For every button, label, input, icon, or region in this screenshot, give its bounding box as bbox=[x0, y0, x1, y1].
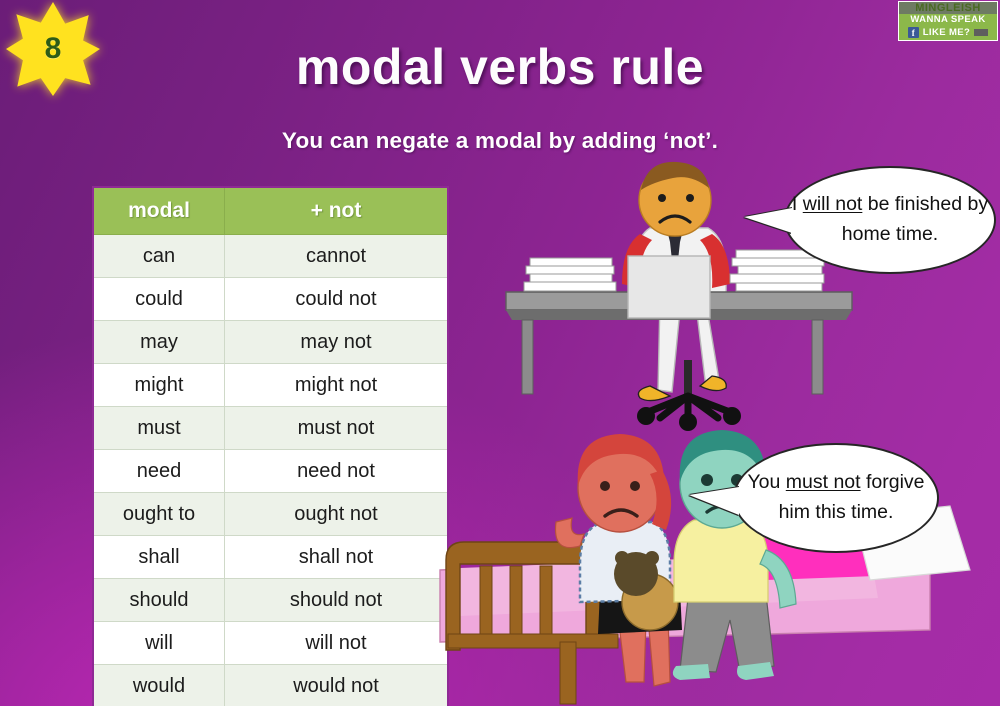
cell-negated: shall not bbox=[225, 536, 449, 579]
table-row: needneed not bbox=[93, 450, 448, 493]
table-row: willwill not bbox=[93, 622, 448, 665]
cell-modal: may bbox=[93, 321, 225, 364]
speech-bubble-bedroom-text: You must not forgive him this time. bbox=[735, 468, 937, 527]
cell-negated: will not bbox=[225, 622, 449, 665]
boy-shirt bbox=[674, 520, 768, 602]
boy-eye-left bbox=[701, 474, 713, 486]
speech-bubble-office: I will not be finished by home time. bbox=[784, 166, 996, 274]
table-row: shallshall not bbox=[93, 536, 448, 579]
cell-modal: must bbox=[93, 407, 225, 450]
cell-modal: might bbox=[93, 364, 225, 407]
teddy-ear-right bbox=[645, 551, 659, 565]
cell-modal: will bbox=[93, 622, 225, 665]
cell-modal: shall bbox=[93, 536, 225, 579]
mingleish-logo[interactable]: MINGLEISH WANNA SPEAK f LIKE ME? bbox=[898, 1, 998, 41]
cell-modal: ought to bbox=[93, 493, 225, 536]
table-row: couldcould not bbox=[93, 278, 448, 321]
table-row: cancannot bbox=[93, 235, 448, 278]
table-row: mightmight not bbox=[93, 364, 448, 407]
cell-negated: ought not bbox=[225, 493, 449, 536]
boy-pants bbox=[680, 594, 774, 672]
girl-eye-right bbox=[630, 481, 640, 491]
speech-bubble-bedroom: You must not forgive him this time. bbox=[733, 443, 939, 553]
table-row: shouldshould not bbox=[93, 579, 448, 622]
column-header-not: + not bbox=[225, 187, 449, 235]
cell-modal: could bbox=[93, 278, 225, 321]
paper-stack-left bbox=[524, 258, 616, 291]
cell-negated: must not bbox=[225, 407, 449, 450]
column-header-modal: modal bbox=[93, 187, 225, 235]
boy-shoe-left bbox=[673, 664, 710, 680]
paper-stack-right bbox=[730, 250, 824, 291]
emphasis-will-not: will not bbox=[803, 193, 863, 215]
worker-eye-right bbox=[686, 194, 694, 202]
girl-arm bbox=[556, 518, 585, 548]
page-subtitle: You can negate a modal by adding ‘not’. bbox=[0, 128, 1000, 154]
speech-bubble-tail bbox=[689, 487, 739, 515]
logo-line-2: LIKE ME? bbox=[923, 27, 971, 38]
table-row: mustmust not bbox=[93, 407, 448, 450]
table-row: ought toought not bbox=[93, 493, 448, 536]
modal-verbs-table: modal + not cancannotcouldcould notmayma… bbox=[92, 186, 449, 706]
teddy-ear-left bbox=[615, 551, 629, 565]
table-header-row: modal + not bbox=[93, 187, 448, 235]
facebook-icon[interactable]: f bbox=[908, 27, 919, 38]
cell-negated: may not bbox=[225, 321, 449, 364]
page-title: modal verbs rule bbox=[0, 38, 1000, 96]
cell-modal: can bbox=[93, 235, 225, 278]
table-row: maymay not bbox=[93, 321, 448, 364]
speech-bubble-tail bbox=[744, 208, 792, 233]
worker-eye-left bbox=[658, 194, 666, 202]
laptop-screen bbox=[628, 256, 710, 318]
cell-negated: need not bbox=[225, 450, 449, 493]
slide-canvas: 8 MINGLEISH WANNA SPEAK f LIKE ME? modal… bbox=[0, 0, 1000, 706]
cell-negated: cannot bbox=[225, 235, 449, 278]
logo-brand-text: MINGLEISH bbox=[899, 2, 997, 14]
cell-modal: need bbox=[93, 450, 225, 493]
table-body: cancannotcouldcould notmaymay notmightmi… bbox=[93, 235, 448, 706]
cell-negated: might not bbox=[225, 364, 449, 407]
cell-modal: would bbox=[93, 665, 225, 706]
emphasis-must-not: must not bbox=[786, 471, 861, 493]
table-row: wouldwould not bbox=[93, 665, 448, 706]
cell-negated: would not bbox=[225, 665, 449, 706]
cell-negated: should not bbox=[225, 579, 449, 622]
logo-tag-icon bbox=[974, 29, 988, 36]
speech-bubble-office-text: I will not be finished by home time. bbox=[786, 190, 994, 249]
cell-negated: could not bbox=[225, 278, 449, 321]
worker-shoe-right bbox=[700, 376, 726, 391]
cell-modal: should bbox=[93, 579, 225, 622]
girl-eye-left bbox=[600, 481, 610, 491]
logo-line-1: WANNA SPEAK bbox=[899, 14, 997, 26]
